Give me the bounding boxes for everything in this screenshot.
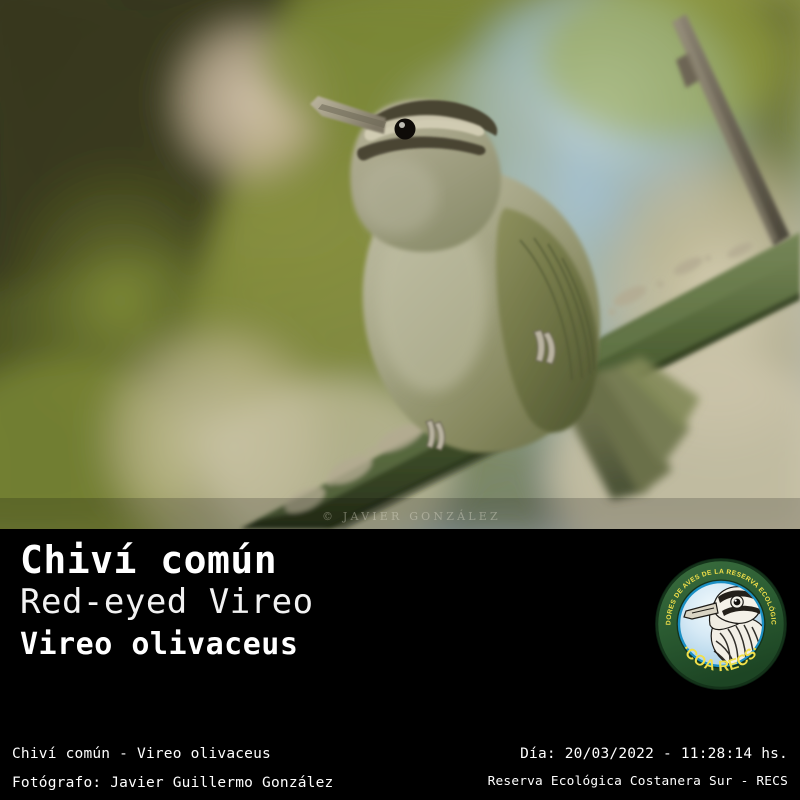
bird-throat — [358, 158, 438, 234]
caption-footer: Chiví común - Vireo olivaceus Fotógrafo:… — [0, 734, 800, 800]
bird-photograph: © JAVIER GONZÁLEZ — [0, 0, 800, 529]
coa-recs-logo-graphic: CLUB DE OBSERVADORES DE AVES DE LA RESER… — [652, 555, 790, 693]
bird-eye — [395, 119, 416, 140]
footer-right-block: Día: 20/03/2022 - 11:28:14 hs. Reserva E… — [488, 747, 788, 788]
footer-location-line: Reserva Ecológica Costanera Sur - RECS — [488, 776, 788, 789]
species-title-band: Chiví común Red-eyed Vireo Vireo olivace… — [0, 529, 800, 734]
footer-species-line: Chiví común - Vireo olivaceus — [12, 747, 333, 762]
footer-photographer-line: Fotógrafo: Javier Guillermo González — [12, 776, 333, 791]
species-names: Chiví común Red-eyed Vireo Vireo olivace… — [20, 540, 620, 662]
photo-illustration — [0, 0, 800, 529]
english-name-title: Red-eyed Vireo — [20, 583, 620, 622]
scientific-name-title: Vireo olivaceus — [20, 628, 620, 662]
common-name-title: Chiví común — [20, 540, 620, 581]
footer-left-block: Chiví común - Vireo olivaceus Fotógrafo:… — [12, 747, 333, 790]
coa-recs-logo[interactable]: CLUB DE OBSERVADORES DE AVES DE LA RESER… — [652, 555, 790, 693]
eye-highlight — [399, 122, 405, 128]
bird-photo-card: © JAVIER GONZÁLEZ Chiví común Red-eyed V… — [0, 0, 800, 800]
footer-date-line: Día: 20/03/2022 - 11:28:14 hs. — [488, 747, 788, 762]
